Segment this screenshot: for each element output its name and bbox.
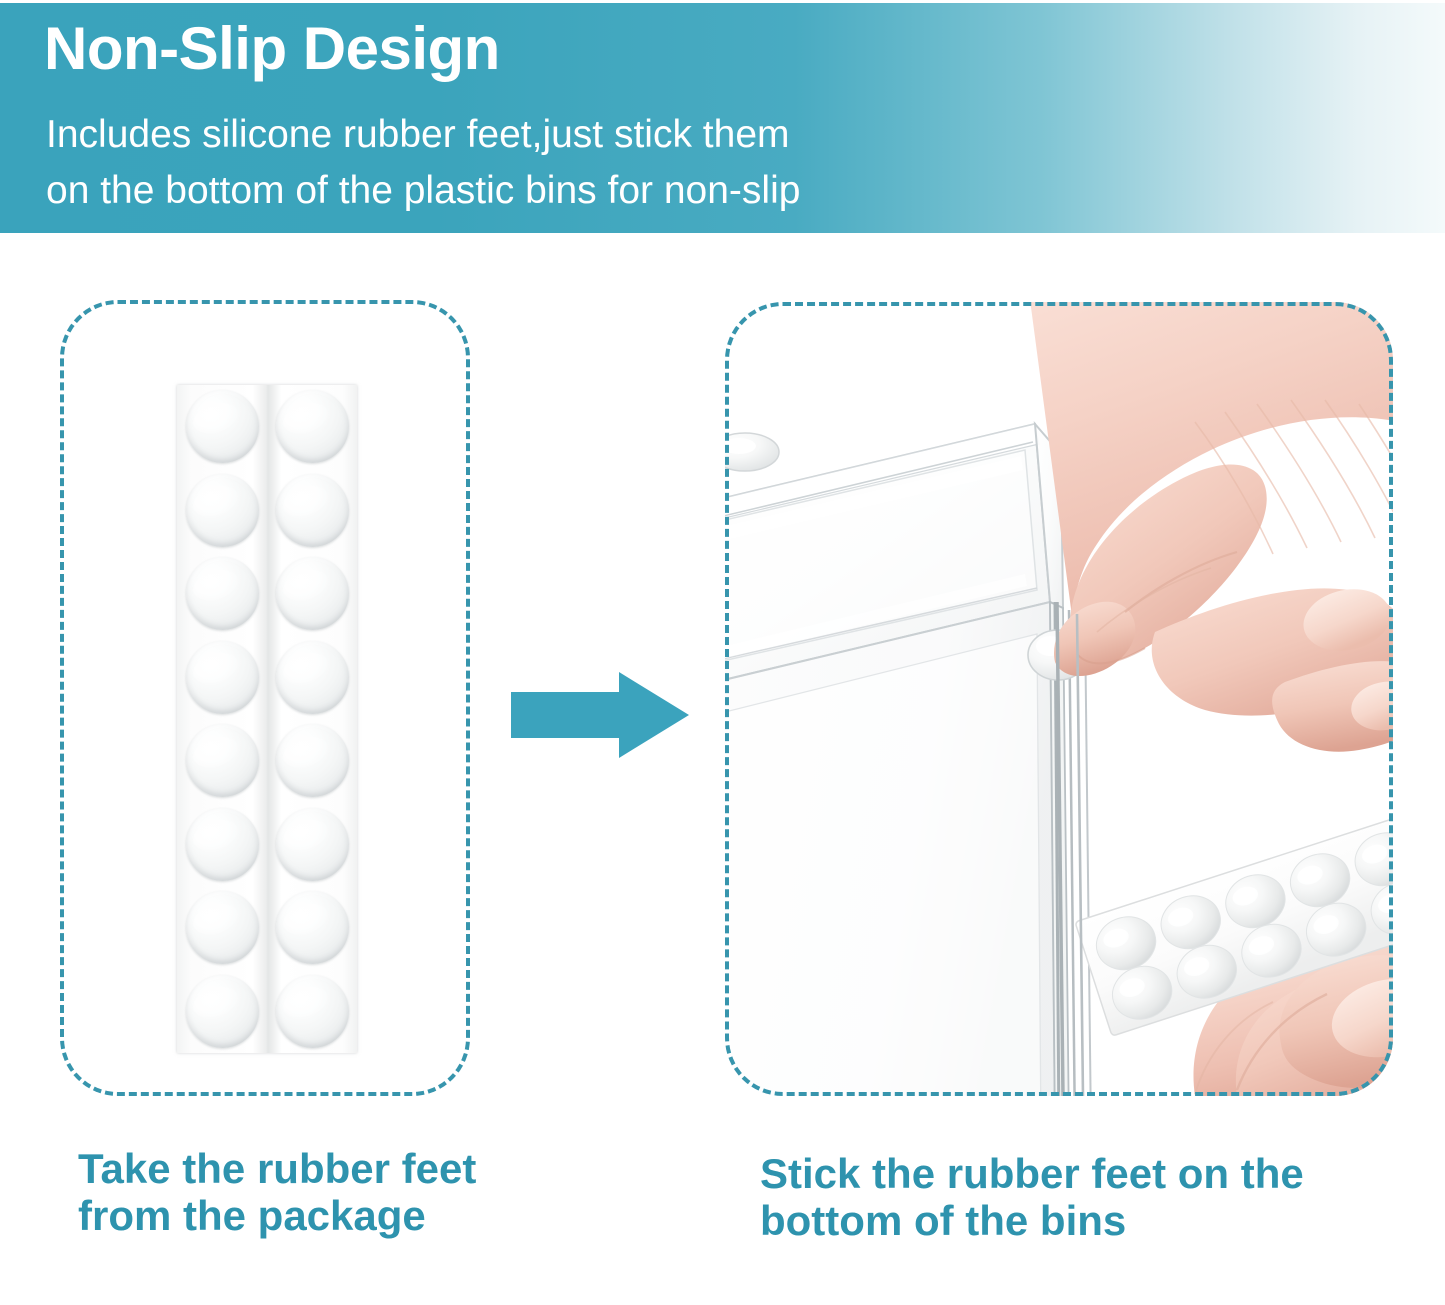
rubber-feet-strip-image [177,385,357,1053]
bumper-cell [267,636,357,720]
sticking-feet-panel [725,302,1393,1096]
rubber-foot-bumper [186,641,259,714]
step-2-caption: Stick the rubber feet on the bottom of t… [760,1150,1410,1245]
rubber-foot-bumper [276,975,349,1048]
bumper-cell [267,719,357,803]
rubber-foot-bumper [186,557,259,630]
rubber-foot-bumper [276,557,349,630]
rubber-foot-bumper [276,724,349,797]
rubber-foot-bumper [186,808,259,881]
bumper-cell [177,385,267,469]
rubber-foot-bumper [276,641,349,714]
bumper-cell [177,636,267,720]
rubber-foot-bumper [186,390,259,463]
page-title: Non-Slip Design [44,19,500,79]
bumper-cell [177,886,267,970]
bumper-cell [267,469,357,553]
bumper-cell [267,803,357,887]
rubber-foot-bumper [276,474,349,547]
rubber-foot-bumper [186,474,259,547]
rubber-foot-bumper [276,891,349,964]
rubber-foot-bumper [186,724,259,797]
rubber-foot-bumper [186,891,259,964]
rubber-foot-bumper [276,808,349,881]
bumper-cell [177,719,267,803]
header-subtitle-line-1: Includes silicone rubber feet,just stick… [46,115,790,154]
bumper-cell [267,886,357,970]
step-1-caption: Take the rubber feet from the package [78,1145,498,1240]
bumper-cell [177,552,267,636]
bumper-cell [267,552,357,636]
header-banner: Non-Slip Design Includes silicone rubber… [0,3,1445,233]
rubber-foot-bumper [186,975,259,1048]
bumper-cell [177,803,267,887]
bumper-cell [267,970,357,1054]
rubber-foot-bumper [276,390,349,463]
header-subtitle-line-2: on the bottom of the plastic bins for no… [46,171,800,210]
bumper-cell [267,385,357,469]
bumper-cell [177,469,267,553]
bumper-cell [177,970,267,1054]
arrow-right-icon [511,672,689,758]
